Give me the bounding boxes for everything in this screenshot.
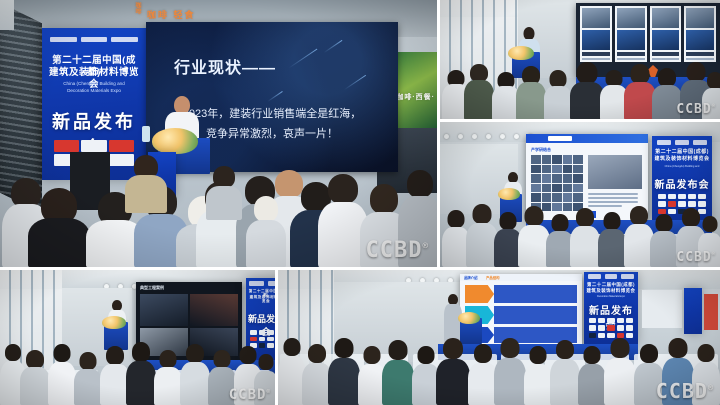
card-image [686, 30, 714, 50]
side-standee [684, 288, 702, 334]
watermark-ccbd: CCBD® [229, 387, 271, 403]
card-image [582, 8, 610, 28]
banner-title-cn-line1: 第二十二届中国(成都) [586, 282, 636, 287]
card-caption [686, 52, 714, 56]
banner-title-en-line2: China (Chengdu) Building and [48, 81, 140, 87]
card-subtext [617, 58, 645, 60]
product-card [580, 6, 612, 62]
watermark-ccbd: CCBD® [365, 238, 429, 263]
photo-mosaic [531, 155, 583, 211]
watermark-ccbd: CCBD® [656, 379, 714, 403]
card-image [686, 8, 714, 28]
flower-arrangement [102, 316, 126, 329]
card-image [582, 30, 610, 50]
panel-dark-slide: 典型工程案例 第二十二届中国(成都) 建筑及装饰材料博览会 新品发布会 [0, 270, 275, 405]
panel-flow-slide: 品牌介绍 产品结构 第二十二届中国(成都)建筑及装饰材料博览会 第二十二届中国(… [278, 270, 720, 405]
banner-title-cn-line2: 建筑及装饰材料博览会 [586, 288, 636, 293]
banner-title-en-line3: Decoration Materials Expo [587, 295, 635, 298]
card-subtext [582, 58, 610, 60]
product-card [650, 6, 682, 62]
panel-audience-slide: 产学研结合 第二十二届中国(成都) 建筑及装饰材料博览会 China (Chen… [440, 122, 720, 267]
banner-sponsor-strip [50, 37, 137, 42]
banner-title-en-line2: China (Chengdu) Building and [656, 165, 709, 168]
flower-arrangement [498, 188, 520, 200]
banner-title-cn-line2: 建筑及装饰材料博览会 [248, 295, 275, 304]
watermark-ccbd: CCBD® [676, 250, 716, 265]
slide-tab-left: 品牌介绍 [464, 275, 478, 280]
flower-arrangement [152, 128, 198, 154]
slide-photo [588, 155, 642, 189]
slide-quadrant [190, 294, 238, 326]
slide-quadrant [140, 294, 188, 326]
slide-topbar [526, 134, 648, 143]
slide-title: 产学研结合 [531, 147, 551, 153]
card-subtext [652, 58, 680, 60]
signage-right: 咖啡·西餐· [396, 92, 435, 102]
card-caption [652, 52, 680, 56]
signage-vertical: 咖啡 [133, 2, 142, 14]
product-card-row [580, 6, 716, 62]
ceiling-lights [444, 134, 533, 139]
banner-title-cn-line2: 建筑及装饰材料博览会 [654, 156, 709, 162]
card-image [617, 8, 645, 28]
banner-logo-grid [589, 318, 633, 338]
banner-title-cn-line1: 第二十二届中国(成都) [654, 149, 709, 155]
slide-tab [548, 136, 572, 141]
watermark-ccbd: CCBD® [676, 102, 716, 117]
photo-collage: 咖啡 轻食 咖啡 咖啡·西餐· 第二十二届中国(成都) 建筑及装饰材料博览会 C… [0, 0, 720, 405]
signage-coffee-snack: 咖啡 轻食 [147, 8, 196, 21]
card-image [652, 8, 680, 28]
card-subtext [686, 58, 714, 60]
panel-speaker-wide: CCBD® [440, 0, 720, 119]
flower-arrangement [458, 312, 480, 324]
card-image [652, 30, 680, 50]
banner-event-title: 新品发布会 [654, 176, 710, 191]
card-image [617, 30, 645, 50]
booth-panel [642, 290, 682, 328]
wall-pane [0, 0, 14, 30]
card-caption [582, 52, 610, 56]
slide-heading: 行业现状—— [174, 54, 276, 78]
expo-banner: 第二十二届中国(成都) 建筑及装饰材料博览会 Decoration Materi… [584, 272, 638, 344]
product-card [684, 6, 716, 62]
red-standee [704, 294, 718, 330]
slide-topbar [460, 274, 582, 281]
product-card [615, 6, 647, 62]
flow-row [465, 285, 577, 303]
slide-title: 典型工程案例 [140, 285, 164, 291]
card-caption [617, 52, 645, 56]
flower-arrangement [508, 46, 534, 60]
panel-main-keynote: 咖啡 轻食 咖啡 咖啡·西餐· 第二十二届中国(成都) 建筑及装饰材料博览会 C… [0, 0, 437, 267]
water-bottle [142, 126, 150, 142]
banner-title-en-line3: Decoration Materials Expo [48, 88, 140, 94]
slide-tab-right: 产品结构 [486, 275, 500, 280]
